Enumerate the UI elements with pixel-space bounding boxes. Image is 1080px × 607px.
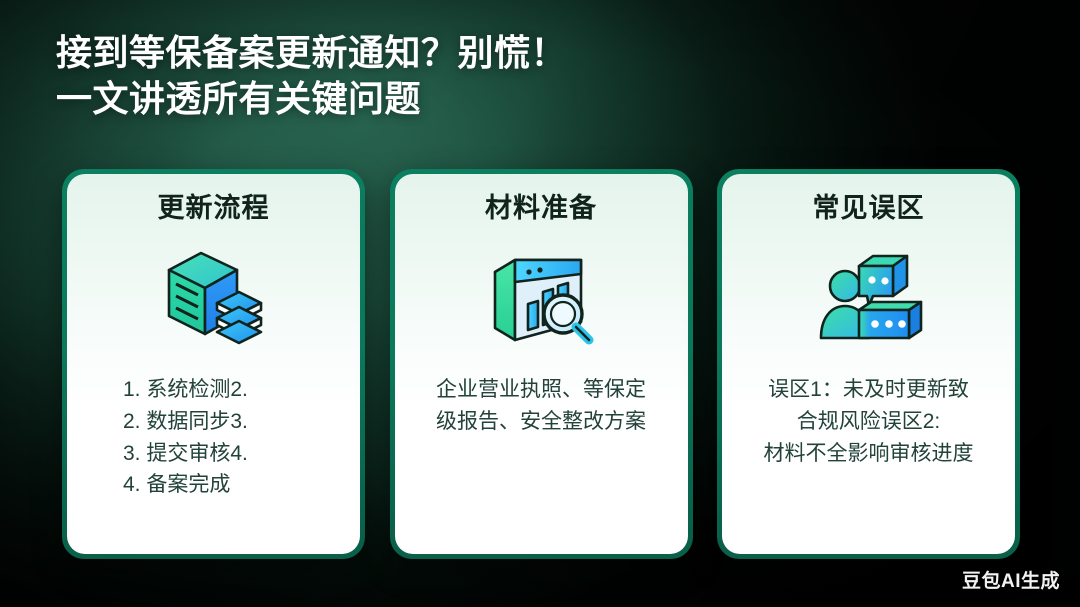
list-item: 1. 系统检测2. bbox=[123, 374, 346, 406]
card-title: 常见误区 bbox=[813, 194, 925, 224]
body-line: 材料不全影响审核进度 bbox=[736, 438, 1001, 470]
body-line: 级报告、安全整改方案 bbox=[409, 406, 674, 438]
list-item: 4. 备案完成 bbox=[123, 469, 346, 501]
card-inner: 更新流程 bbox=[67, 174, 360, 554]
card-body: 1. 系统检测2. 2. 数据同步3. 3. 提交审核4. 4. 备案完成 bbox=[81, 374, 346, 502]
headline-line-2: 一文讲透所有关键问题 bbox=[56, 76, 567, 122]
body-line: 企业营业执照、等保定 bbox=[409, 374, 674, 406]
card-row: 更新流程 bbox=[62, 169, 1020, 559]
body-line: 误区1：未及时更新致 bbox=[736, 374, 1001, 406]
server-database-icon bbox=[159, 246, 269, 350]
card-material-preparation[interactable]: 材料准备 bbox=[390, 169, 693, 559]
headline-line-1: 接到等保备案更新通知？别慌！ bbox=[56, 30, 567, 76]
poster-canvas: 接到等保备案更新通知？别慌！ 一文讲透所有关键问题 更新流程 bbox=[0, 0, 1080, 607]
watermark-label: 豆包AI生成 bbox=[962, 566, 1060, 593]
card-common-mistakes[interactable]: 常见误区 bbox=[717, 169, 1020, 559]
card-inner: 常见误区 bbox=[722, 174, 1015, 554]
list-item: 3. 提交审核4. bbox=[123, 438, 346, 470]
card-body: 企业营业执照、等保定 级报告、安全整改方案 bbox=[409, 374, 674, 438]
card-update-process[interactable]: 更新流程 bbox=[62, 169, 365, 559]
person-chat-icon bbox=[811, 246, 927, 350]
card-body: 误区1：未及时更新致 合规风险误区2: 材料不全影响审核进度 bbox=[736, 374, 1001, 470]
list-item: 2. 数据同步3. bbox=[123, 406, 346, 438]
body-line: 合规风险误区2: bbox=[736, 406, 1001, 438]
card-title: 材料准备 bbox=[485, 194, 597, 224]
poster-headline: 接到等保备案更新通知？别慌！ 一文讲透所有关键问题 bbox=[56, 30, 567, 122]
card-title: 更新流程 bbox=[158, 194, 270, 224]
card-inner: 材料准备 bbox=[395, 174, 688, 554]
chart-search-icon bbox=[485, 246, 597, 350]
